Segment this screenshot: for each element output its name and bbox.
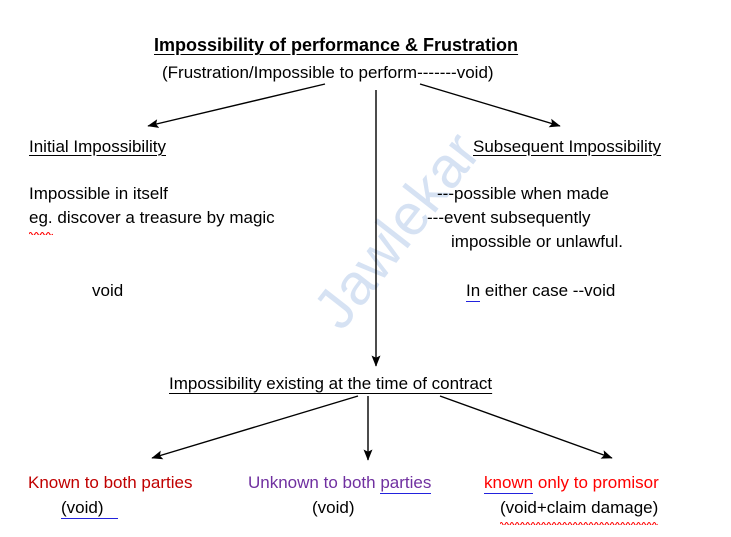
bottom-left-label: Known to both parties [28, 471, 192, 495]
diagram-canvas: Jawlekar Impossibility of performance & … [0, 0, 731, 537]
middle-node-heading: Impossibility existing at the time of co… [169, 372, 492, 396]
spellcheck-eg: eg. [29, 206, 53, 230]
grammar-underline-in: In [466, 281, 480, 302]
bottom-left-value: (void) [61, 496, 118, 520]
bottom-left-value-text: (void) [61, 498, 118, 519]
page-title: Impossibility of performance & Frustrati… [154, 33, 518, 57]
bottom-center-label-part1: Unknown to both [248, 473, 380, 492]
left-branch-line-2: eg. discover a treasure by magic [29, 206, 275, 230]
bottom-right-value: (void+claim damage) [500, 496, 658, 520]
arrow-title-to-subsequent [420, 84, 560, 126]
left-branch-line-2-rest: discover a treasure by magic [53, 208, 275, 227]
bottom-right-label-rest: only to promisor [533, 473, 659, 492]
right-branch-line-2: ---event subsequently [427, 206, 590, 230]
bottom-center-label: Unknown to both parties [248, 471, 431, 495]
spellcheck-void-claim: (void+claim damage) [500, 496, 658, 520]
right-branch-outcome-rest: either case --void [480, 281, 615, 300]
bottom-right-value-text: (void+claim damage) [500, 498, 658, 517]
arrow-middle-to-known [152, 396, 358, 458]
grammar-underline-known: known [484, 473, 533, 494]
left-branch-line-1: Impossible in itself [29, 182, 168, 206]
arrow-title-to-initial [148, 84, 325, 126]
red-squiggle-icon [500, 520, 658, 525]
bottom-right-label: known only to promisor [484, 471, 659, 495]
right-branch-heading: Subsequent Impossibility [473, 135, 661, 159]
right-branch-line-1: ---possible when made [437, 182, 609, 206]
right-branch-line-3: impossible or unlawful. [451, 230, 623, 254]
left-branch-line-2-prefix: eg. [29, 208, 53, 227]
red-squiggle-icon [29, 230, 53, 235]
left-branch-outcome: void [92, 279, 123, 303]
left-branch-heading: Initial Impossibility [29, 135, 166, 159]
arrow-middle-to-promisor [440, 396, 612, 458]
bottom-center-value: (void) [312, 496, 355, 520]
page-subtitle: (Frustration/Impossible to perform------… [162, 61, 494, 85]
grammar-underline-parties: parties [380, 473, 431, 494]
right-branch-outcome: In either case --void [466, 279, 615, 303]
